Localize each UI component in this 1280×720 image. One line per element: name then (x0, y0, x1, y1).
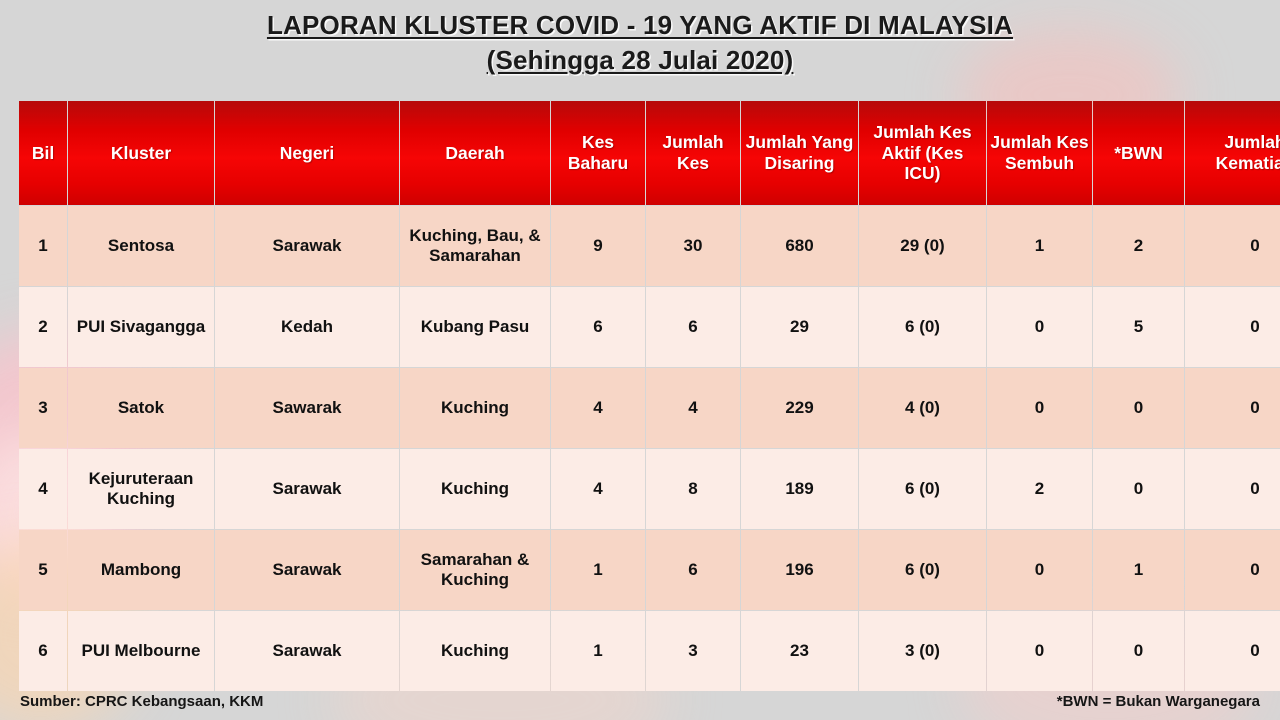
cell-bil: 6 (19, 611, 67, 691)
page-title: LAPORAN KLUSTER COVID - 19 YANG AKTIF DI… (0, 0, 1280, 79)
slide-page: LAPORAN KLUSTER COVID - 19 YANG AKTIF DI… (0, 0, 1280, 720)
cell-jumlah-kes: 3 (646, 611, 740, 691)
title-line-subtitle: (Sehingga 28 Julai 2020) (487, 43, 794, 78)
cell-daerah: Kubang Pasu (400, 287, 550, 367)
cell-bwn: 1 (1093, 530, 1184, 610)
cell-kematian: 0 (1185, 287, 1280, 367)
cell-kes-aktif: 29 (0) (859, 206, 986, 286)
footer: Sumber: CPRC Kebangsaan, KKM *BWN = Buka… (0, 682, 1280, 720)
cell-disaring: 196 (741, 530, 858, 610)
table-row: 6 PUI Melbourne Sarawak Kuching 1 3 23 3… (19, 611, 1280, 691)
column-header-disaring: Jumlah Yang Disaring (741, 101, 858, 205)
cell-kes-sembuh: 2 (987, 449, 1092, 529)
cell-jumlah-kes: 8 (646, 449, 740, 529)
cell-negeri: Sarawak (215, 449, 399, 529)
cell-kematian: 0 (1185, 206, 1280, 286)
table-body: 1 Sentosa Sarawak Kuching, Bau, & Samara… (19, 206, 1280, 691)
cell-kluster: Kejuruteraan Kuching (68, 449, 214, 529)
cell-negeri: Sawarak (215, 368, 399, 448)
cell-daerah: Kuching (400, 449, 550, 529)
column-header-kluster: Kluster (68, 101, 214, 205)
cluster-table: Bil Kluster Negeri Daerah Kes Baharu Jum… (18, 100, 1280, 692)
column-header-kes-sembuh: Jumlah Kes Sembuh (987, 101, 1092, 205)
column-header-jumlah-kes: Jumlah Kes (646, 101, 740, 205)
cell-bil: 5 (19, 530, 67, 610)
cell-kes-aktif: 6 (0) (859, 287, 986, 367)
cell-kes-sembuh: 0 (987, 530, 1092, 610)
column-header-kes-baharu: Kes Baharu (551, 101, 645, 205)
cell-jumlah-kes: 30 (646, 206, 740, 286)
cell-kematian: 0 (1185, 611, 1280, 691)
cell-daerah: Kuching (400, 368, 550, 448)
cell-kes-baharu: 1 (551, 530, 645, 610)
cell-bwn: 2 (1093, 206, 1184, 286)
table-header-row: Bil Kluster Negeri Daerah Kes Baharu Jum… (19, 101, 1280, 205)
cell-negeri: Sarawak (215, 530, 399, 610)
cluster-table-container: Bil Kluster Negeri Daerah Kes Baharu Jum… (18, 100, 1265, 692)
table-row: 3 Satok Sawarak Kuching 4 4 229 4 (0) 0 … (19, 368, 1280, 448)
column-header-kematian: Jumlah Kematian (1185, 101, 1280, 205)
cell-kes-baharu: 1 (551, 611, 645, 691)
cell-bwn: 5 (1093, 287, 1184, 367)
cell-kes-sembuh: 0 (987, 287, 1092, 367)
cell-kes-baharu: 9 (551, 206, 645, 286)
cell-kematian: 0 (1185, 530, 1280, 610)
table-row: 5 Mambong Sarawak Samarahan & Kuching 1 … (19, 530, 1280, 610)
cell-kes-baharu: 6 (551, 287, 645, 367)
table-row: 4 Kejuruteraan Kuching Sarawak Kuching 4… (19, 449, 1280, 529)
cell-kluster: PUI Melbourne (68, 611, 214, 691)
cell-disaring: 229 (741, 368, 858, 448)
column-header-daerah: Daerah (400, 101, 550, 205)
cell-kes-baharu: 4 (551, 449, 645, 529)
cell-negeri: Sarawak (215, 206, 399, 286)
column-header-kes-aktif: Jumlah Kes Aktif (Kes ICU) (859, 101, 986, 205)
cell-kes-aktif: 6 (0) (859, 530, 986, 610)
table-row: 1 Sentosa Sarawak Kuching, Bau, & Samara… (19, 206, 1280, 286)
cell-jumlah-kes: 6 (646, 530, 740, 610)
cell-disaring: 29 (741, 287, 858, 367)
cell-negeri: Kedah (215, 287, 399, 367)
column-header-negeri: Negeri (215, 101, 399, 205)
table-header: Bil Kluster Negeri Daerah Kes Baharu Jum… (19, 101, 1280, 205)
cell-daerah: Kuching (400, 611, 550, 691)
column-header-bwn: *BWN (1093, 101, 1184, 205)
cell-bil: 2 (19, 287, 67, 367)
cell-disaring: 189 (741, 449, 858, 529)
cell-bil: 1 (19, 206, 67, 286)
cell-kes-sembuh: 0 (987, 368, 1092, 448)
cell-bil: 4 (19, 449, 67, 529)
cell-kes-aktif: 4 (0) (859, 368, 986, 448)
cell-kematian: 0 (1185, 449, 1280, 529)
cell-kes-sembuh: 0 (987, 611, 1092, 691)
cell-bwn: 0 (1093, 611, 1184, 691)
cell-disaring: 23 (741, 611, 858, 691)
cell-negeri: Sarawak (215, 611, 399, 691)
cell-kes-aktif: 3 (0) (859, 611, 986, 691)
column-header-bil: Bil (19, 101, 67, 205)
footer-source: Sumber: CPRC Kebangsaan, KKM (20, 693, 263, 710)
footer-legend: *BWN = Bukan Warganegara (1057, 693, 1260, 710)
cell-bwn: 0 (1093, 449, 1184, 529)
cell-jumlah-kes: 4 (646, 368, 740, 448)
cell-jumlah-kes: 6 (646, 287, 740, 367)
title-line-primary: LAPORAN KLUSTER COVID - 19 YANG AKTIF DI… (267, 8, 1013, 43)
cell-kluster: PUI Sivagangga (68, 287, 214, 367)
cell-kluster: Satok (68, 368, 214, 448)
cell-bwn: 0 (1093, 368, 1184, 448)
cell-kematian: 0 (1185, 368, 1280, 448)
cell-daerah: Kuching, Bau, & Samarahan (400, 206, 550, 286)
cell-disaring: 680 (741, 206, 858, 286)
cell-daerah: Samarahan & Kuching (400, 530, 550, 610)
cell-bil: 3 (19, 368, 67, 448)
cell-kluster: Mambong (68, 530, 214, 610)
cell-kluster: Sentosa (68, 206, 214, 286)
cell-kes-baharu: 4 (551, 368, 645, 448)
cell-kes-sembuh: 1 (987, 206, 1092, 286)
table-row: 2 PUI Sivagangga Kedah Kubang Pasu 6 6 2… (19, 287, 1280, 367)
cell-kes-aktif: 6 (0) (859, 449, 986, 529)
